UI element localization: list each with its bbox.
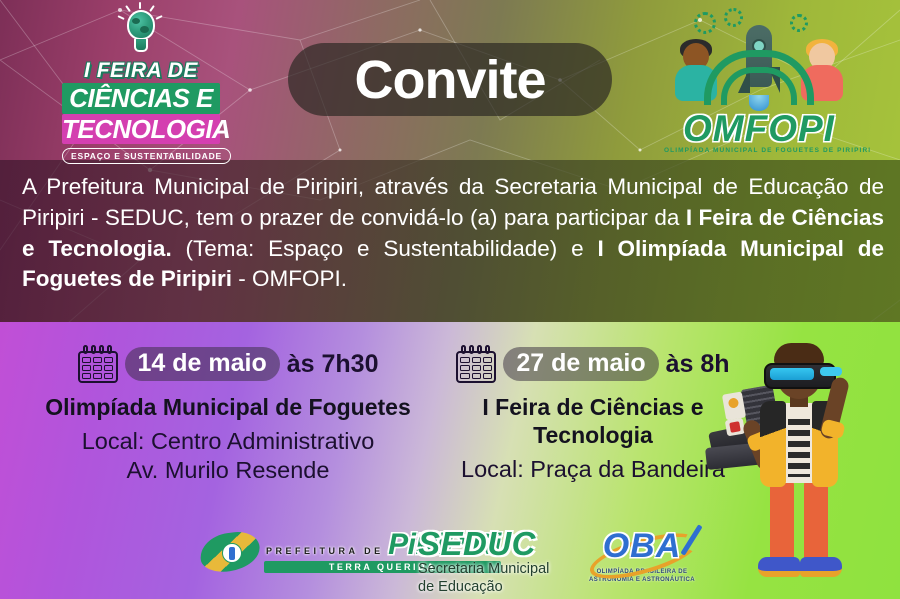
convite-title-pill: Convite xyxy=(288,43,612,116)
piripiri-flag-icon xyxy=(200,525,260,577)
poster-header: I FEIRA DE CIÊNCIAS E TECNOLOGIA ESPAÇO … xyxy=(0,0,900,160)
event-time: às 7h30 xyxy=(287,350,379,379)
rocket-students-icon xyxy=(664,10,854,115)
feira-logo: I FEIRA DE CIÊNCIAS E TECNOLOGIA ESPAÇO … xyxy=(62,8,220,164)
lightbulb-globe-icon xyxy=(119,8,163,58)
footer-logos: PREFEITURA DE PiRiPiRi TERRA QUERIDA SED… xyxy=(0,517,900,591)
feira-logo-line3: TECNOLOGIA xyxy=(62,114,220,145)
omfopi-logo: OMFOPI OLIMPÍADA MUNICIPAL DE FOGUETES D… xyxy=(664,10,854,154)
seduc-logo: SEDUC Secretaria Municipal de Educação xyxy=(418,527,549,596)
page-title: Convite xyxy=(354,53,545,107)
event-date-row: 14 de maio às 7h30 xyxy=(28,345,428,383)
feira-logo-line1: I FEIRA DE xyxy=(62,60,220,82)
event-date: 27 de maio xyxy=(503,347,658,382)
event-date: 14 de maio xyxy=(125,347,280,382)
omfopi-subtitle: OLIMPÍADA MUNICIPAL DE FOGUETES DE PIRIP… xyxy=(664,147,854,154)
feira-logo-line2: CIÊNCIAS E xyxy=(62,83,220,114)
event-title: Olimpíada Municipal de Foguetes xyxy=(28,393,428,421)
calendar-icon xyxy=(456,345,496,383)
seduc-wordmark: SEDUC xyxy=(418,527,549,560)
invitation-body-text: A Prefeitura Municipal de Piripiri, atra… xyxy=(22,172,884,295)
prefeitura-line1: PREFEITURA DE xyxy=(266,546,384,556)
oba-orbit-icon: OBA xyxy=(582,525,702,569)
body-text-segment-4: - OMFOPI. xyxy=(232,266,347,291)
calendar-icon xyxy=(78,345,118,383)
event-block: 14 de maio às 7h30 Olimpíada Municipal d… xyxy=(28,345,428,486)
seduc-subtitle-line2: de Educação xyxy=(418,580,549,596)
invitation-poster: I FEIRA DE CIÊNCIAS E TECNOLOGIA ESPAÇO … xyxy=(0,0,900,599)
event-local-line1: Local: Centro Administrativo xyxy=(28,427,428,456)
oba-logo: OBA OLIMPÍADA BRASILEIRA DE ASTRONOMIA E… xyxy=(582,525,702,584)
event-local-line2: Av. Murilo Resende xyxy=(28,456,428,485)
omfopi-wordmark: OMFOPI xyxy=(664,111,854,146)
feira-logo-line4: ESPAÇO E SUSTENTABILIDADE xyxy=(62,148,231,164)
body-text-segment-2: (Tema: Espaço e Sustentabilidade) e xyxy=(172,236,598,261)
seduc-subtitle-line1: Secretaria Municipal xyxy=(418,562,549,578)
